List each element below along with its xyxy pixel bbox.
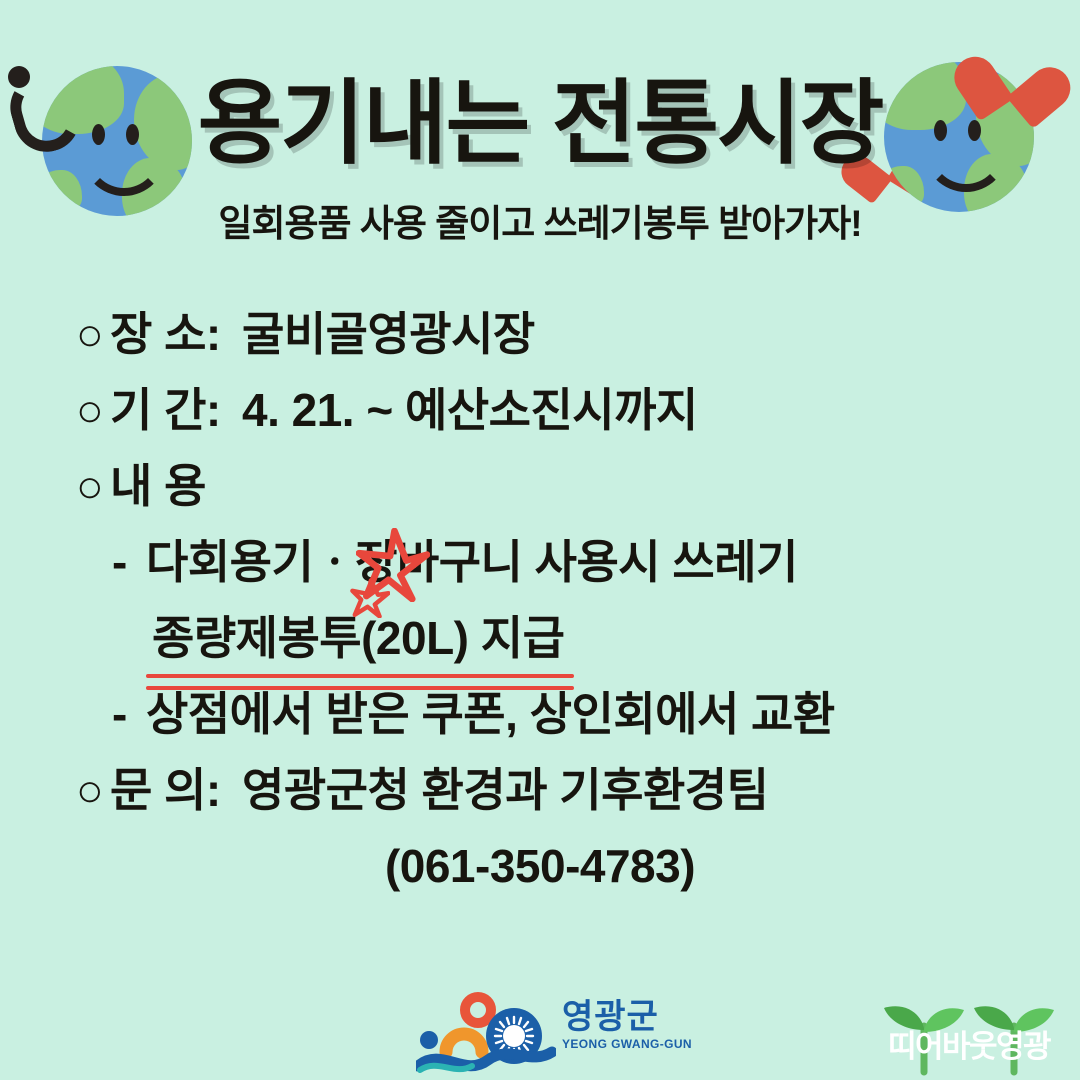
detail-row-inquiry: ○문 의:영광군청 환경과 기후환경팀 (0, 752, 1080, 828)
poster-subtitle: 일회용품 사용 줄이고 쓰레기봉투 받아가자! (0, 205, 1080, 242)
detail-row-coupon-exchange: -상점에서 받은 쿠폰, 상인회에서 교환 (0, 676, 1080, 752)
detail-value: 굴비골영광시장 (242, 308, 535, 360)
dash-marker: - (112, 676, 146, 752)
bullet-marker: ○ (76, 372, 110, 448)
detail-row-reusable-container: -다회용기ㆍ장바구니 사용시 쓰레기 (0, 524, 1080, 600)
detail-label: 장 소: (110, 296, 242, 372)
yeonggwang-korean-name: 영광군 (562, 998, 684, 1036)
poster-header: 용기내는 전통시장 일회용품 사용 줄이고 쓰레기봉투 받아가자! (0, 0, 1080, 275)
contact-phone: (061-350-4783) (0, 828, 1080, 904)
detail-label: 기 간: (110, 372, 242, 448)
yeonggwang-wordmark: 영광군 YEONG GWANG-GUN (562, 998, 684, 1052)
detail-value: 영광군청 환경과 기후환경팀 (242, 764, 768, 816)
detail-value: 다회용기ㆍ장바구니 사용시 쓰레기 (146, 536, 798, 588)
underlined-highlight: 종량제봉투(20L) 지급 (152, 600, 564, 676)
about-yeonggwang-brand-text: 띠어바웃영광 (866, 1030, 1072, 1064)
poster-canvas: 용기내는 전통시장 일회용품 사용 줄이고 쓰레기봉투 받아가자! ○장 소:굴… (0, 0, 1080, 1080)
yeonggwang-english-name: YEONG GWANG-GUN (562, 1036, 684, 1052)
yeonggwang-emblem-icon (416, 990, 556, 1076)
detail-label: 문 의: (110, 752, 242, 828)
detail-value: 상점에서 받은 쿠폰, 상인회에서 교환 (146, 688, 835, 740)
detail-value: 종량제봉투(20L) 지급 (152, 612, 564, 664)
poster-title: 용기내는 전통시장 (0, 78, 1080, 170)
about-yeonggwang-logo: 띠어바웃영광 (866, 996, 1072, 1076)
detail-value: 4. 21. ~ 예산소진시까지 (242, 384, 698, 436)
bullet-marker: ○ (76, 752, 110, 828)
detail-row-period: ○기 간:4. 21. ~ 예산소진시까지 (0, 372, 1080, 448)
yeonggwang-gun-logo: 영광군 YEONG GWANG-GUN (416, 990, 684, 1076)
detail-row-garbage-bag: 종량제봉투(20L) 지급 (0, 600, 1080, 676)
bullet-marker: ○ (76, 448, 110, 524)
detail-label: 내 용 (110, 448, 242, 524)
detail-list: ○장 소:굴비골영광시장 ○기 간:4. 21. ~ 예산소진시까지 ○내 용 … (0, 296, 1080, 904)
detail-row-contents-heading: ○내 용 (0, 448, 1080, 524)
bullet-marker: ○ (76, 296, 110, 372)
dash-marker: - (112, 524, 146, 600)
detail-row-location: ○장 소:굴비골영광시장 (0, 296, 1080, 372)
